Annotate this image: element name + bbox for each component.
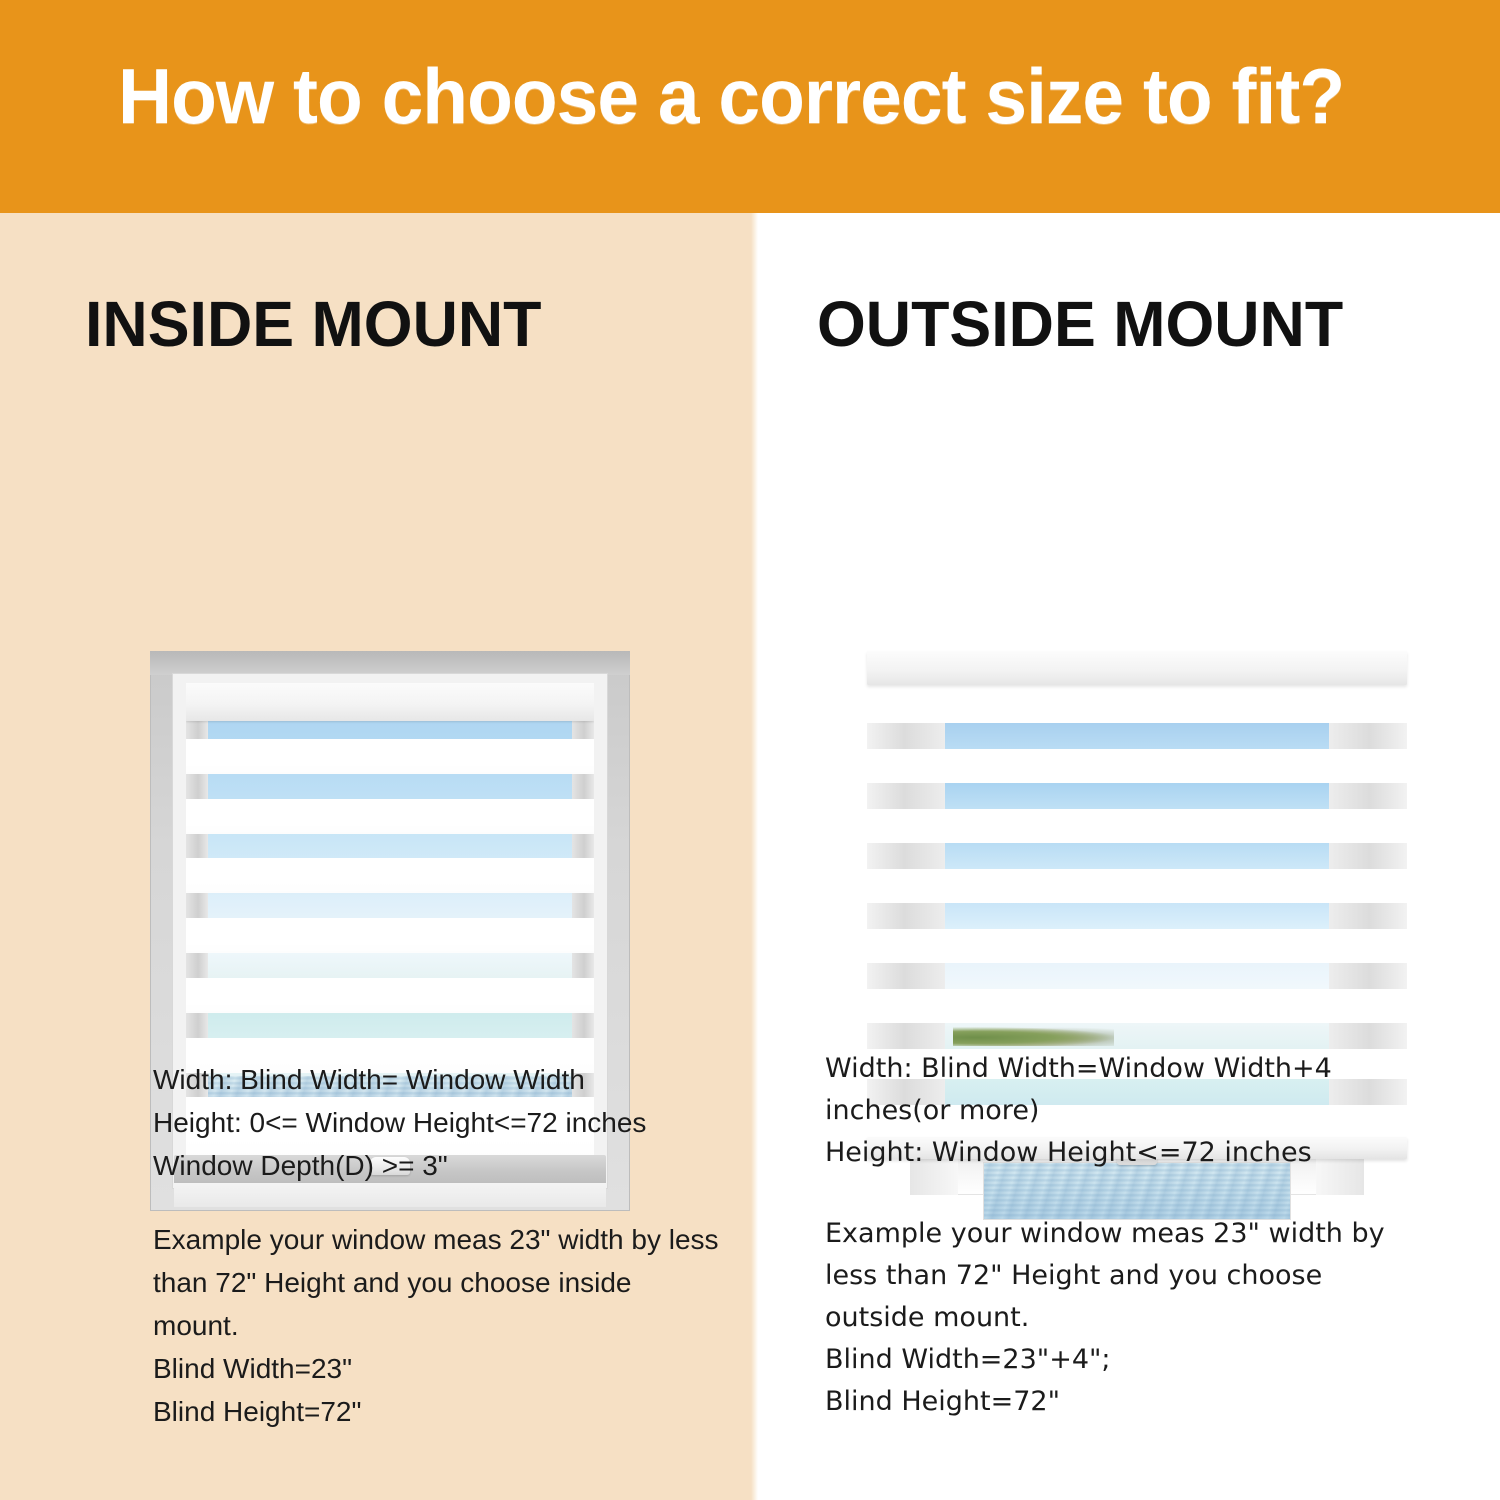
inside-spec-height: Height: 0<= Window Height<=72 inches [153, 1101, 713, 1144]
inside-example-width: Blind Width=23" [153, 1347, 723, 1390]
inside-mount-example: Example your window meas 23" width by le… [153, 1218, 723, 1433]
inside-spec-depth: Window Depth(D) >= 3" [153, 1144, 713, 1187]
band-end-cap-left [867, 903, 945, 929]
band-end-cap-left [867, 783, 945, 809]
outdoor-scene-sky [945, 903, 1329, 929]
inside-spec-width: Width: Blind Width= Window Width [153, 1058, 713, 1101]
band-end-cap-right [1329, 723, 1407, 749]
band-view-window [945, 723, 1329, 749]
band-end-cap-left [867, 963, 945, 989]
panel-divider [751, 213, 758, 1500]
band-view-window [945, 903, 1329, 929]
outside-example-intro: Example your window meas 23" width by le… [825, 1213, 1405, 1339]
blind-slat [186, 918, 594, 953]
band-view-window [945, 963, 1329, 989]
blind-stack [857, 651, 1417, 1101]
blind-view-band [867, 723, 1407, 749]
outside-spec-width: Width: Blind Width=Window Width+4 inches… [825, 1048, 1385, 1132]
band-end-cap-right [1329, 843, 1407, 869]
inside-mount-panel: INSIDE MOUNT [0, 213, 757, 1500]
band-end-cap-right [1329, 783, 1407, 809]
band-end-cap-left [867, 843, 945, 869]
band-end-cap-left [867, 1023, 945, 1049]
island-shape-icon [953, 1027, 1114, 1046]
outdoor-scene-sky [945, 843, 1329, 869]
blind-view-band [867, 903, 1407, 929]
outside-mount-spec: Width: Blind Width=Window Width+4 inches… [825, 1048, 1385, 1174]
band-end-cap-left [867, 723, 945, 749]
page-title: How to choose a correct size to fit? [118, 52, 1344, 140]
outside-example-height: Blind Height=72" [825, 1381, 1405, 1423]
inside-example-height: Blind Height=72" [153, 1390, 723, 1433]
outside-mount-panel: OUTSIDE MOUNT [757, 213, 1500, 1500]
blind-slat [186, 978, 594, 1013]
band-end-cap-right [1329, 903, 1407, 929]
blind-headrail [186, 683, 594, 721]
blind-view-band [867, 843, 1407, 869]
inside-mount-heading: INSIDE MOUNT [85, 289, 541, 359]
band-end-cap-right [1329, 1023, 1407, 1049]
blind-view-band [867, 963, 1407, 989]
outside-spec-height: Height: Window Height<=72 inches [825, 1132, 1385, 1174]
outdoor-scene-sky [945, 723, 1329, 749]
blind-headrail [867, 651, 1407, 685]
infographic-page: How to choose a correct size to fit? INS… [0, 0, 1500, 1500]
outside-example-width: Blind Width=23"+4"; [825, 1339, 1405, 1381]
window-frame-top-bevel [150, 651, 630, 675]
band-view-window [945, 843, 1329, 869]
band-view-window [945, 783, 1329, 809]
outside-mount-heading: OUTSIDE MOUNT [817, 289, 1343, 359]
header-banner: How to choose a correct size to fit? [0, 0, 1500, 213]
blind-slat [186, 739, 594, 774]
inside-mount-spec: Width: Blind Width= Window Width Height:… [153, 1058, 713, 1187]
outdoor-scene-haze [945, 963, 1329, 989]
inside-example-intro: Example your window meas 23" width by le… [153, 1218, 723, 1347]
band-view-window [945, 1023, 1329, 1049]
outdoor-scene-sky [945, 783, 1329, 809]
blind-slat [186, 799, 594, 834]
outdoor-scene-horizon [945, 1023, 1329, 1049]
blind-slat [186, 858, 594, 893]
band-end-cap-right [1329, 963, 1407, 989]
outside-mount-example: Example your window meas 23" width by le… [825, 1213, 1405, 1423]
blind-view-band [867, 1023, 1407, 1049]
blind-view-band [867, 783, 1407, 809]
